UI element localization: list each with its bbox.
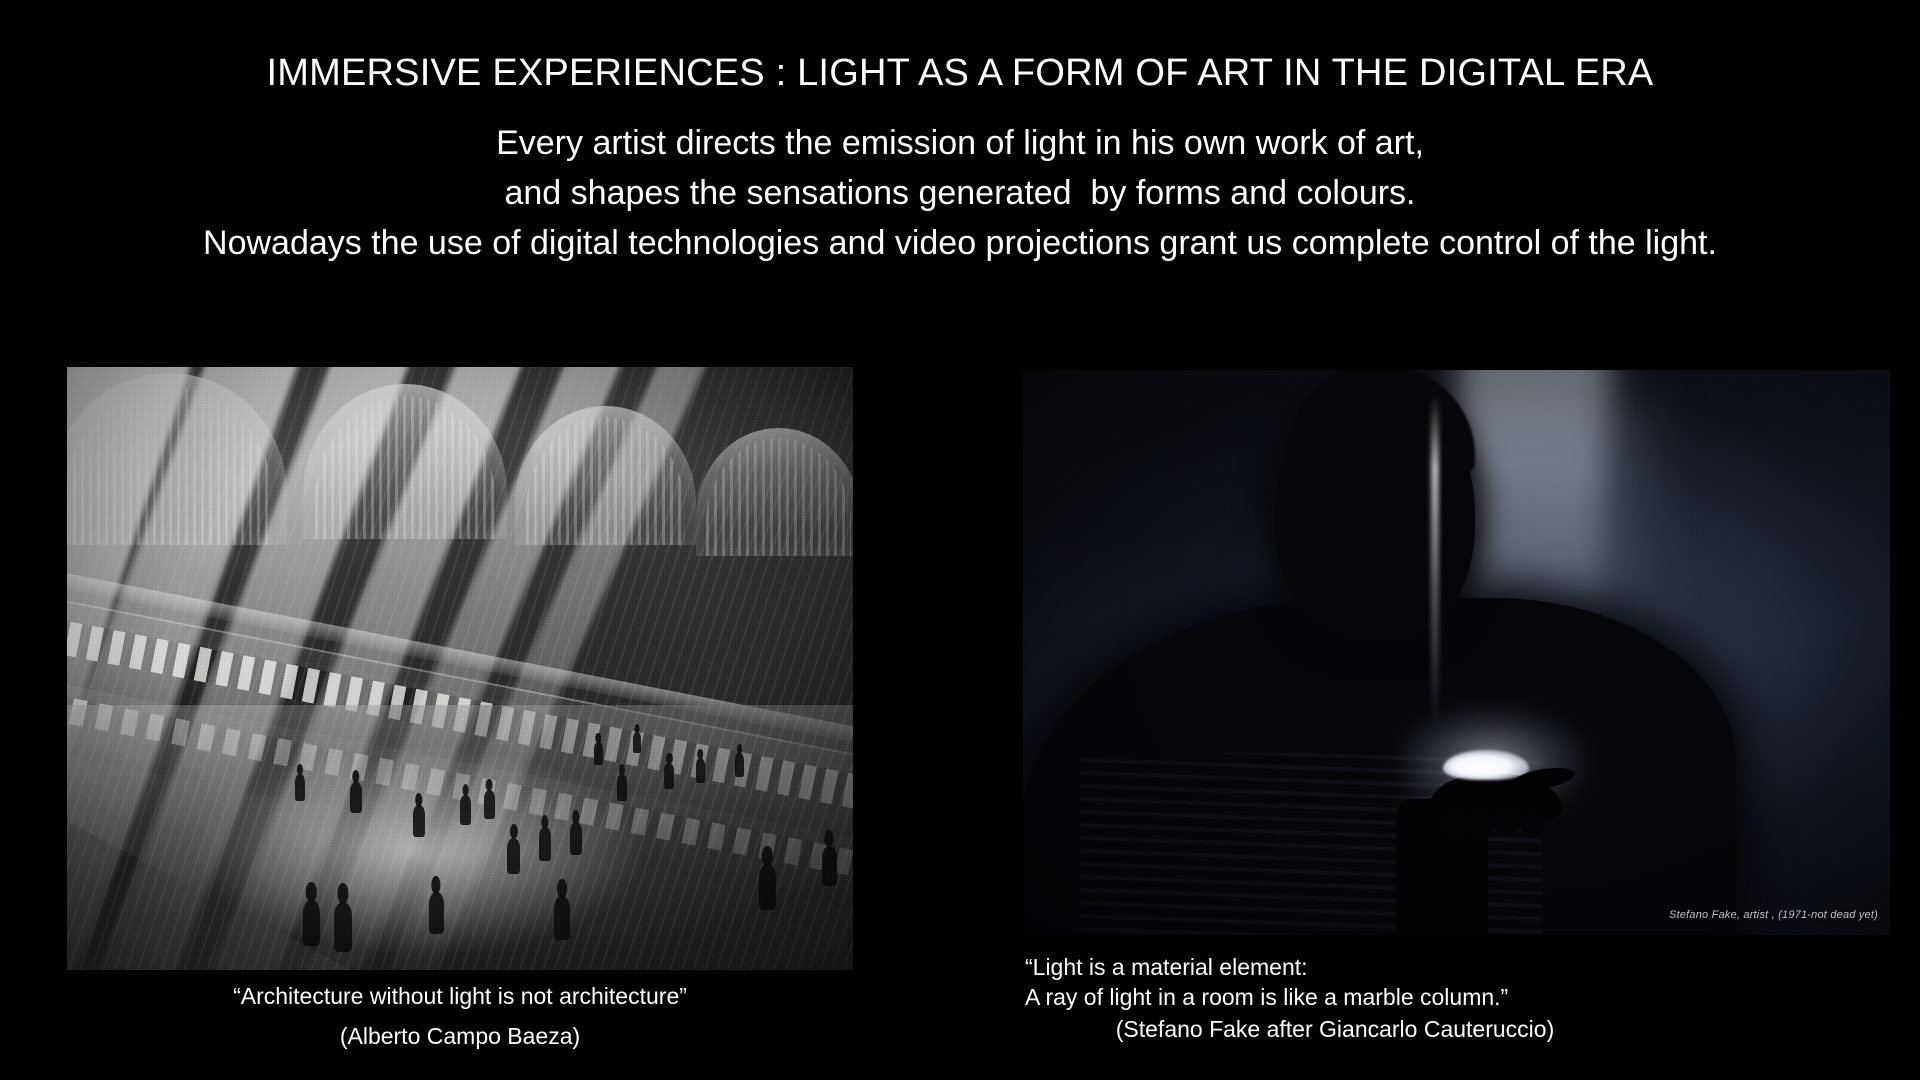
subtitle-line-3: Nowadays the use of digital technologies… [0, 218, 1920, 268]
right-caption-line-1: “Light is a material element: [1025, 952, 1905, 982]
subtitle-line-2: and shapes the sensations generated by f… [0, 168, 1920, 218]
left-photo-caption: “Architecture without light is not archi… [67, 976, 853, 1056]
light-in-hand-scene: Stefano Fake, artist , (1971-not dead ye… [1023, 370, 1890, 935]
person-silhouette [759, 864, 776, 910]
person-silhouette [664, 763, 674, 789]
person-silhouette [633, 732, 641, 753]
person-silhouette [484, 790, 495, 819]
person-silhouette [507, 838, 520, 874]
light-in-hand-photo: Stefano Fake, artist , (1971-not dead ye… [1023, 370, 1890, 935]
person-silhouette [570, 822, 582, 855]
right-caption-author: (Stefano Fake after Giancarlo Cauterucci… [1025, 1014, 1645, 1044]
person-silhouette [334, 902, 352, 952]
face-rim-light [1431, 394, 1439, 729]
presentation-slide: IMMERSIVE EXPERIENCES : LIGHT AS A FORM … [0, 0, 1920, 1080]
person-silhouette [735, 753, 744, 777]
person-silhouette [350, 782, 362, 813]
person-silhouette [554, 896, 570, 940]
beam-streaks [67, 367, 853, 970]
person-silhouette [460, 795, 471, 825]
person-silhouette [822, 846, 837, 886]
person-silhouette [303, 900, 320, 946]
person-silhouette [617, 774, 627, 801]
grand-central-photo [67, 367, 853, 970]
person-silhouette [696, 758, 705, 783]
person-silhouette [594, 742, 603, 765]
hair-silhouette [1289, 370, 1475, 484]
left-caption-quote: “Architecture without light is not archi… [67, 976, 853, 1016]
man-silhouette [1023, 370, 1751, 935]
person-silhouette [295, 774, 305, 801]
right-caption-line-2: A ray of light in a room is like a marbl… [1025, 982, 1905, 1012]
left-caption-author: (Alberto Campo Baeza) [67, 1016, 853, 1056]
person-silhouette [413, 805, 425, 837]
right-photo-caption: “Light is a material element: A ray of l… [1025, 952, 1905, 1044]
slide-title: IMMERSIVE EXPERIENCES : LIGHT AS A FORM … [0, 52, 1920, 95]
photo-watermark: Stefano Fake, artist , (1971-not dead ye… [1669, 909, 1878, 921]
light-beams [67, 367, 853, 970]
person-silhouette [429, 892, 444, 934]
slide-subtitle: Every artist directs the emission of lig… [0, 118, 1920, 268]
grand-central-scene [67, 367, 853, 970]
fingers-silhouette [1439, 812, 1549, 856]
subtitle-line-1: Every artist directs the emission of lig… [0, 118, 1920, 168]
person-silhouette [539, 827, 551, 861]
